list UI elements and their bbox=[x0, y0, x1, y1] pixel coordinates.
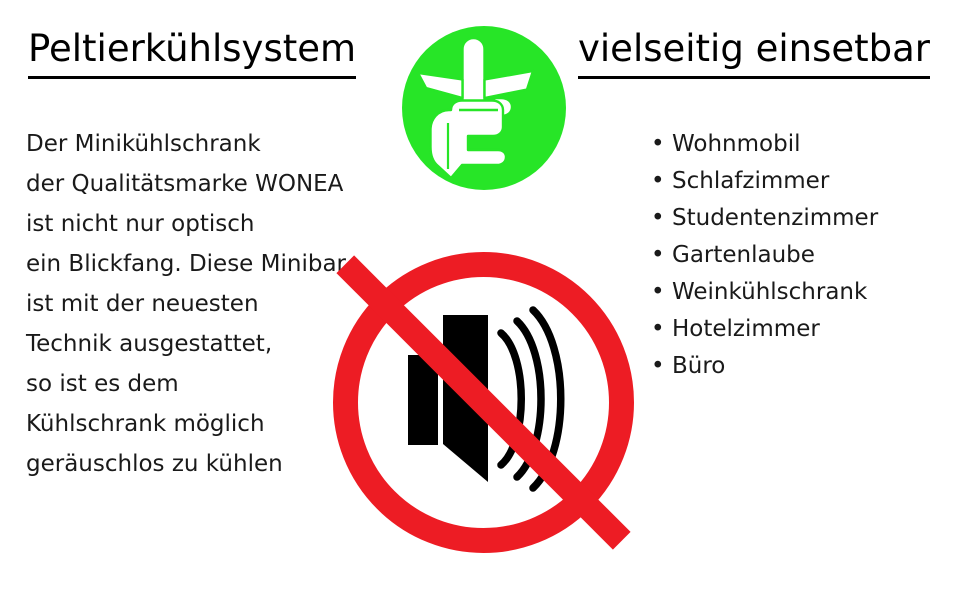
bullet-icon: • bbox=[651, 274, 665, 311]
list-item-label: Schlafzimmer bbox=[672, 168, 829, 194]
list-item-label: Büro bbox=[672, 353, 725, 379]
list-item-label: Studentenzimmer bbox=[672, 205, 878, 231]
list-item-label: Gartenlaube bbox=[672, 242, 815, 268]
page-title-right: vielseitig einsetbar bbox=[578, 30, 930, 79]
no-noise-icon bbox=[332, 251, 635, 554]
bullet-icon: • bbox=[651, 126, 665, 163]
list-item-label: Weinkühlschrank bbox=[672, 279, 867, 305]
list-item: • Weinkühlschrank bbox=[650, 274, 950, 311]
use-case-list: • Wohnmobil • Schlafzimmer • Studentenzi… bbox=[650, 126, 950, 385]
list-item: • Büro bbox=[650, 348, 950, 385]
page-title-left: Peltierkühlsystem bbox=[28, 30, 356, 79]
list-item: • Studentenzimmer bbox=[650, 200, 950, 237]
list-item: • Hotelzimmer bbox=[650, 311, 950, 348]
list-item: • Schlafzimmer bbox=[650, 163, 950, 200]
list-item: • Wohnmobil bbox=[650, 126, 950, 163]
description-line: Der Minikühlschrank bbox=[26, 124, 406, 164]
list-item: • Gartenlaube bbox=[650, 237, 950, 274]
infographic-canvas: Peltierkühlsystem vielseitig einsetbar D… bbox=[0, 0, 970, 600]
list-item-label: Wohnmobil bbox=[672, 131, 800, 157]
bullet-icon: • bbox=[651, 237, 665, 274]
description-line: der Qualitätsmarke WONEA bbox=[26, 164, 406, 204]
bullet-icon: • bbox=[651, 311, 665, 348]
bullet-icon: • bbox=[651, 163, 665, 200]
bullet-icon: • bbox=[651, 200, 665, 237]
description-line: ist nicht nur optisch bbox=[26, 204, 406, 244]
bullet-icon: • bbox=[651, 348, 665, 385]
list-item-label: Hotelzimmer bbox=[672, 316, 820, 342]
silence-shhh-icon bbox=[402, 26, 566, 190]
